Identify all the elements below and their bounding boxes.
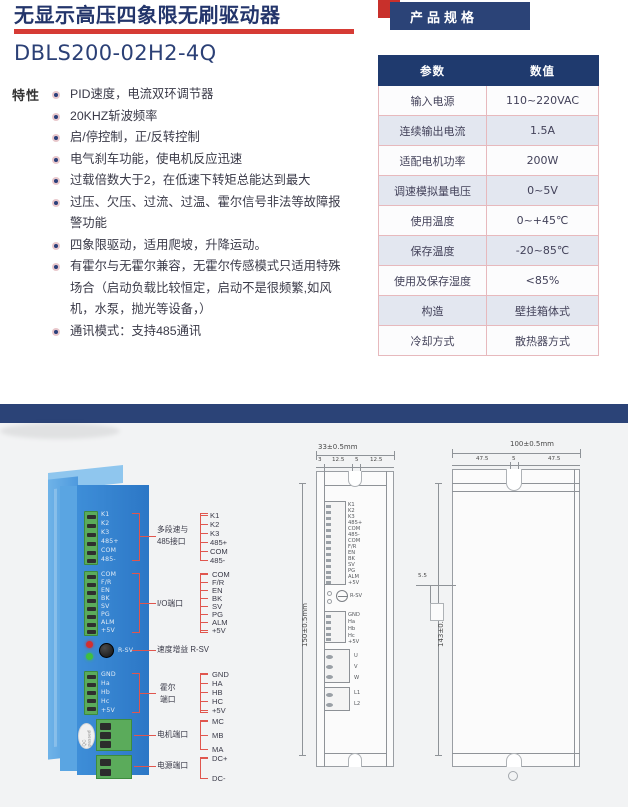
callout-title-io: I/O端口 bbox=[157, 599, 183, 608]
cell-value: 1.5A bbox=[487, 116, 599, 146]
bullet-icon bbox=[52, 156, 60, 164]
list-item: PID速度，电流双环调节器 bbox=[52, 84, 352, 106]
cell-param: 输入电源 bbox=[379, 86, 487, 116]
callout-brace-io bbox=[132, 573, 140, 633]
callout-brace-power-right bbox=[200, 757, 208, 779]
list-item: 启/停控制，正/反转控制 bbox=[52, 127, 352, 149]
feature-text: PID速度，电流双环调节器 bbox=[70, 87, 213, 101]
drawing-knob-label: R-SV bbox=[350, 593, 362, 600]
drawing-potentiometer bbox=[336, 590, 348, 602]
cell-value: 0~5V bbox=[487, 176, 599, 206]
cell-value: 200W bbox=[487, 146, 599, 176]
cell-value: 110~220VAC bbox=[487, 86, 599, 116]
cell-value: 壁挂箱体式 bbox=[487, 296, 599, 326]
bullet-icon bbox=[52, 91, 60, 99]
list-item: 通讯模式：支持485通讯 bbox=[52, 321, 352, 343]
feature-text: 启/停控制，正/反转控制 bbox=[70, 130, 200, 144]
cell-param: 连续输出电流 bbox=[379, 116, 487, 146]
drawing-pin-label: +5V bbox=[348, 580, 359, 587]
callout-item: HA bbox=[212, 679, 223, 688]
drawing-connector-power bbox=[324, 687, 350, 711]
drawing-pin-label: +5V bbox=[348, 639, 359, 646]
front-view-top-notch bbox=[348, 471, 362, 487]
terminal-block-hall bbox=[84, 671, 98, 715]
pin-label: Ha bbox=[101, 680, 110, 687]
dim-side-sub-2: 47.5 bbox=[548, 456, 560, 462]
front-view-bottom-notch bbox=[348, 753, 362, 767]
features-label: 特性 bbox=[12, 85, 40, 104]
callout-item: DC+ bbox=[212, 754, 227, 763]
terminal-block-speed-485 bbox=[84, 511, 98, 565]
pin-label: 485- bbox=[101, 556, 116, 563]
bullet-icon bbox=[52, 113, 60, 121]
dim-side-sub-0: 47.5 bbox=[476, 456, 488, 462]
list-item: 20KHZ斩波频率 bbox=[52, 106, 352, 128]
pin-label: +5V bbox=[101, 707, 115, 714]
drawing-pin-label: GND bbox=[348, 612, 360, 619]
column-header-param: 参数 bbox=[379, 56, 487, 86]
pin-label: SV bbox=[101, 603, 110, 610]
cell-param: 构造 bbox=[379, 296, 487, 326]
pin-label: Hb bbox=[101, 689, 110, 696]
table-row: 使用及保存湿度 <85% bbox=[379, 266, 599, 296]
pin-label: 485+ bbox=[101, 538, 119, 545]
cell-param: 使用温度 bbox=[379, 206, 487, 236]
callout-lead-hall bbox=[140, 693, 156, 694]
callout-item: +5V bbox=[212, 626, 226, 635]
pin-label: Hc bbox=[101, 698, 109, 705]
product-header-section: 无显示高压四象限无刷驱动器 DBLS200-02H2-4Q 特性 PID速度，电… bbox=[0, 0, 628, 405]
cell-value: 0~+45℃ bbox=[487, 206, 599, 236]
drawing-pin-label: L2 bbox=[354, 701, 360, 708]
callout-title-power: 电源端口 bbox=[157, 761, 188, 770]
terminal-block-power bbox=[96, 755, 132, 779]
callout-item: MC bbox=[212, 717, 224, 726]
pin-label: PG bbox=[101, 611, 110, 618]
callout-item: MA bbox=[212, 745, 223, 754]
pin-label: K2 bbox=[101, 520, 109, 527]
spec-banner-title: 产品规格 bbox=[390, 2, 530, 30]
side-view-body bbox=[452, 469, 580, 767]
dim-front-sub-3: 12.5 bbox=[370, 457, 382, 463]
drawing-pin-label: L1 bbox=[354, 690, 360, 697]
callout-item: COM bbox=[210, 547, 228, 556]
drawing-pin-label: Ha bbox=[348, 619, 355, 626]
feature-text: 过压、欠压、过流、过温、霍尔信号非法等故障报警功能 bbox=[70, 195, 341, 231]
callout-item: K3 bbox=[210, 529, 219, 538]
callout-item: 485- bbox=[210, 556, 225, 565]
led-green-indicator bbox=[86, 653, 93, 660]
callout-lead-motor bbox=[134, 735, 156, 736]
callout-title-hall-line1: 霍尔 bbox=[160, 683, 176, 692]
dim-side-width: 100±0.5mm bbox=[510, 440, 554, 448]
features-list: PID速度，电流双环调节器 20KHZ斩波频率 启/停控制，正/反转控制 电气刹… bbox=[52, 84, 352, 342]
table-row: 连续输出电流 1.5A bbox=[379, 116, 599, 146]
spec-table: 参数 数值 输入电源 110~220VAC 连续输出电流 1.5A 适配电机功率… bbox=[378, 55, 599, 356]
pin-label: F/R bbox=[101, 579, 112, 586]
bullet-icon bbox=[52, 242, 60, 250]
callout-item: MB bbox=[212, 731, 223, 740]
table-row: 调速模拟量电压 0~5V bbox=[379, 176, 599, 206]
drawing-pin-label: V bbox=[354, 664, 358, 671]
feature-text: 四象限驱动，适用爬坡，升降运动。 bbox=[70, 238, 267, 252]
side-view-bottom-tab bbox=[506, 753, 522, 767]
pin-label: K1 bbox=[101, 511, 109, 518]
feature-text: 过载倍数大于2，在低速下转矩总能达到最大 bbox=[70, 173, 310, 187]
device-shadow bbox=[0, 423, 120, 439]
cell-value: <85% bbox=[487, 266, 599, 296]
callout-item: K2 bbox=[210, 520, 219, 529]
table-row: 保存温度 -20~85℃ bbox=[379, 236, 599, 266]
dim-front-height: 150±0.5mm bbox=[301, 603, 309, 647]
callout-brace-speed485 bbox=[132, 513, 140, 561]
callout-item: HB bbox=[212, 688, 223, 697]
potentiometer-knob[interactable] bbox=[99, 643, 114, 658]
table-row: 输入电源 110~220VAC bbox=[379, 86, 599, 116]
feature-text: 通讯模式：支持485通讯 bbox=[70, 324, 201, 338]
callout-lead-speed485 bbox=[140, 536, 156, 537]
technical-drawings: 33±0.5mm 3 12.5 5 12.5 150±0.5mm bbox=[290, 423, 628, 807]
product-diagram-section: K1 K2 K3 485+ COM 485- COM F/R EN BK SV … bbox=[0, 423, 628, 807]
product-photo: K1 K2 K3 485+ COM 485- COM F/R EN BK SV … bbox=[0, 423, 290, 807]
pin-label: BK bbox=[101, 595, 110, 602]
callout-lead-gain bbox=[132, 650, 156, 651]
table-row: 冷却方式 散热器方式 bbox=[379, 326, 599, 356]
cell-value: -20~85℃ bbox=[487, 236, 599, 266]
drawing-led-2 bbox=[327, 599, 332, 604]
qc-sticker-text: QC passed bbox=[82, 732, 92, 747]
callout-title-gain: 速度增益 R-SV bbox=[157, 645, 209, 654]
pin-label: COM bbox=[101, 571, 116, 578]
feature-text: 20KHZ斩波频率 bbox=[70, 109, 157, 123]
title-wrap: 无显示高压四象限无刷驱动器 bbox=[14, 4, 354, 34]
title-underline bbox=[14, 29, 354, 34]
drawing-pin-label: Hb bbox=[348, 626, 355, 633]
pin-label: GND bbox=[101, 671, 116, 678]
cell-value: 散热器方式 bbox=[487, 326, 599, 356]
list-item: 有霍尔与无霍尔兼容，无霍尔传感模式只适用特殊场合（启动负载比较恒定，启动不是很频… bbox=[52, 256, 352, 321]
drawing-connector-hall bbox=[324, 611, 346, 643]
cell-param: 冷却方式 bbox=[379, 326, 487, 356]
callout-item: GND bbox=[212, 670, 229, 679]
callout-title-speed485-line1: 多段速与 bbox=[157, 525, 188, 534]
pin-label: EN bbox=[101, 587, 110, 594]
knob-pin-label: R-SV bbox=[118, 647, 133, 654]
drawing-bottom-screw bbox=[508, 771, 518, 781]
callout-title-motor: 电机端口 bbox=[157, 730, 188, 739]
list-item: 过压、欠压、过流、过温、霍尔信号非法等故障报警功能 bbox=[52, 192, 352, 235]
page-title: 无显示高压四象限无刷驱动器 bbox=[14, 4, 354, 28]
dim-front-sub-0: 3 bbox=[318, 457, 322, 463]
callout-item: 485+ bbox=[210, 538, 227, 547]
table-row: 使用温度 0~+45℃ bbox=[379, 206, 599, 236]
dim-front-sub-1: 12.5 bbox=[332, 457, 344, 463]
section-divider-band bbox=[0, 404, 628, 423]
list-item: 过载倍数大于2，在低速下转矩总能达到最大 bbox=[52, 170, 352, 192]
callout-lead-power bbox=[134, 766, 156, 767]
bullet-icon bbox=[52, 134, 60, 142]
pin-label: K3 bbox=[101, 529, 109, 536]
cell-param: 使用及保存湿度 bbox=[379, 266, 487, 296]
side-view-mount-hole bbox=[430, 603, 444, 621]
column-header-value: 数值 bbox=[487, 56, 599, 86]
drawing-pin-label: U bbox=[354, 653, 358, 660]
dim-front-width: 33±0.5mm bbox=[318, 443, 358, 451]
callout-title-speed485-line2: 485接口 bbox=[157, 537, 186, 546]
table-header-row: 参数 数值 bbox=[379, 56, 599, 86]
callout-item: HC bbox=[212, 697, 223, 706]
list-item: 四象限驱动，适用爬坡，升降运动。 bbox=[52, 235, 352, 257]
dim-side-sub-1: 5 bbox=[512, 456, 516, 462]
table-row: 构造 壁挂箱体式 bbox=[379, 296, 599, 326]
led-red-indicator bbox=[86, 641, 93, 648]
dim-front-sub-2: 5 bbox=[355, 457, 359, 463]
bullet-icon bbox=[52, 328, 60, 336]
pin-label: ALM bbox=[101, 619, 115, 626]
table-row: 适配电机功率 200W bbox=[379, 146, 599, 176]
cell-param: 保存温度 bbox=[379, 236, 487, 266]
callout-item: K1 bbox=[210, 511, 219, 520]
callout-brace-hall bbox=[132, 673, 140, 713]
dim-side-notch: 5.5 bbox=[418, 573, 427, 579]
callout-lead-io bbox=[140, 603, 156, 604]
terminal-block-io bbox=[84, 571, 98, 636]
callout-item: +5V bbox=[212, 706, 226, 715]
callout-title-hall-line2: 端口 bbox=[160, 695, 176, 704]
bullet-icon bbox=[52, 199, 60, 207]
model-number: DBLS200-02H2-4Q bbox=[14, 41, 217, 65]
callout-brace-speed485-right bbox=[200, 513, 208, 561]
callout-item: DC- bbox=[212, 774, 226, 783]
pin-label: +5V bbox=[101, 627, 115, 634]
cell-param: 适配电机功率 bbox=[379, 146, 487, 176]
pin-label: COM bbox=[101, 547, 116, 554]
bullet-icon bbox=[52, 177, 60, 185]
bullet-icon bbox=[52, 263, 60, 271]
drawing-connector-motor bbox=[324, 649, 350, 683]
drawing-connector-upper bbox=[324, 501, 346, 585]
feature-text: 电气刹车功能，使电机反应迅速 bbox=[70, 152, 242, 166]
side-view-top-tab bbox=[506, 469, 522, 491]
feature-text: 有霍尔与无霍尔兼容，无霍尔传感模式只适用特殊场合（启动负载比较恒定，启动不是很频… bbox=[70, 259, 341, 316]
drawing-pin-label: W bbox=[354, 675, 359, 682]
callout-brace-hall-right bbox=[200, 673, 208, 713]
cell-param: 调速模拟量电压 bbox=[379, 176, 487, 206]
drawing-led-1 bbox=[327, 591, 332, 596]
terminal-block-motor bbox=[96, 719, 132, 751]
qc-sticker: QC passed bbox=[78, 723, 95, 749]
list-item: 电气刹车功能，使电机反应迅速 bbox=[52, 149, 352, 171]
